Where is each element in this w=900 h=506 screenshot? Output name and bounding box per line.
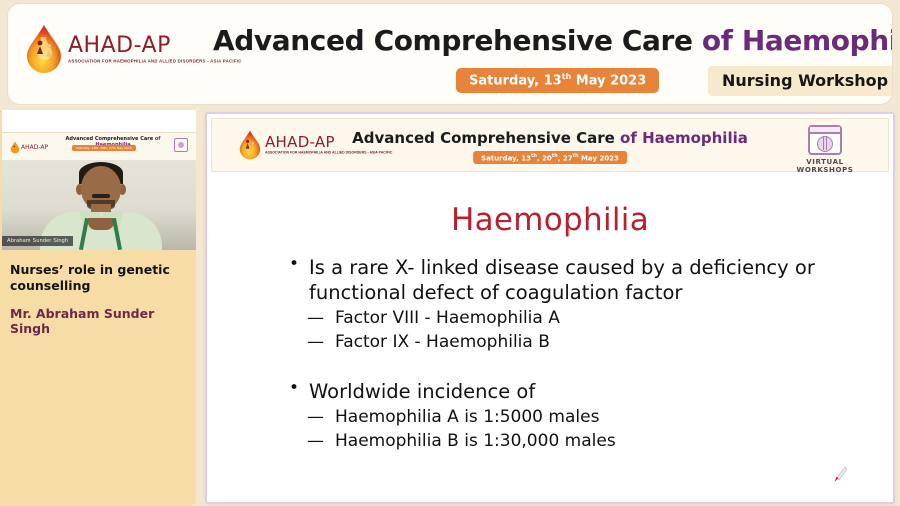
slide-header-title-accent: of Haemophilia xyxy=(620,129,748,147)
workshop-type-badge: Nursing Workshop xyxy=(708,66,892,96)
flame-droplet-logo-icon xyxy=(24,23,64,75)
logo-subtitle: ASSOCIATION FOR HAEMOPHILIA AND ALLIED D… xyxy=(68,60,242,64)
presentation-slide[interactable]: AHAD-AP ASSOCIATION FOR HAEMOPHILIA AND … xyxy=(205,112,895,504)
slide-logo-wordmark: AHAD-AP xyxy=(265,135,359,150)
sub-bullet: Haemophilia B is 1:30,000 males xyxy=(285,429,869,453)
speaker-sidebar: AHAD-AP Advanced Comprehensive Care of H… xyxy=(0,110,196,506)
virtual-workshops-label: VIRTUAL WORKSHOPS xyxy=(792,158,858,174)
virtual-workshops-mark: VIRTUAL WORKSHOPS xyxy=(792,125,858,174)
video-name-overlay: Abraham Sunder Singh xyxy=(2,236,73,246)
session-title: Nurses’ role in genetic counselling xyxy=(10,262,186,293)
slide-header-center: Advanced Comprehensive Care of Haemophil… xyxy=(352,129,748,165)
slide-header-title: Advanced Comprehensive Care of Haemophil… xyxy=(352,129,748,147)
bullet-point: Worldwide incidence of xyxy=(285,380,869,405)
event-date-rest: May 2023 xyxy=(571,73,646,88)
video-backdrop-header: AHAD-AP Advanced Comprehensive Care of H… xyxy=(2,132,196,162)
event-title: Advanced Comprehensive Care of Haemophil… xyxy=(213,24,892,57)
event-title-main: Advanced Comprehensive Care xyxy=(213,24,702,57)
ahad-ap-logo: AHAD-AP ASSOCIATION FOR HAEMOPHILIA AND … xyxy=(24,18,174,80)
date-mid-2: , 27 xyxy=(558,154,573,162)
flame-droplet-logo-icon xyxy=(10,141,20,154)
slide-main-title: Haemophilia xyxy=(207,202,893,238)
browser-globe-icon xyxy=(808,125,842,155)
event-banner: AHAD-AP ASSOCIATION FOR HAEMOPHILIA AND … xyxy=(8,4,892,104)
video-backdrop-wordmark: AHAD-AP xyxy=(21,144,48,151)
slide-header-title-main: Advanced Comprehensive Care xyxy=(352,129,620,147)
flame-droplet-logo-icon xyxy=(238,129,262,161)
laser-pointer-cursor xyxy=(834,466,848,486)
sub-bullet: Factor IX - Haemophilia B xyxy=(285,330,869,354)
date-suffix: May 2023 xyxy=(579,154,619,162)
video-backdrop-date: Saturday, 13th, 20th, 27th May 2023 xyxy=(72,145,136,151)
slide-header-date-badge: Saturday, 13th, 20th, 27th May 2023 xyxy=(473,151,627,163)
event-date-ordinal: th xyxy=(562,72,572,81)
bullet-point: Is a rare X- linked disease caused by a … xyxy=(285,256,839,306)
speaker-video-thumbnail[interactable]: AHAD-AP Advanced Comprehensive Care of H… xyxy=(2,110,196,250)
video-backdrop-logo: AHAD-AP xyxy=(10,141,48,154)
slide-header: AHAD-AP ASSOCIATION FOR HAEMOPHILIA AND … xyxy=(211,118,889,172)
event-title-accent: of Haemophilia xyxy=(702,24,892,57)
video-backdrop-virtual-icon xyxy=(174,138,188,152)
logo-wordmark: AHAD-AP xyxy=(68,35,197,57)
webinar-viewer-stage: AHAD-AP ASSOCIATION FOR HAEMOPHILIA AND … xyxy=(0,0,900,506)
date-mid-1: , 20 xyxy=(537,154,552,162)
event-date-text: Saturday, 13 xyxy=(469,73,562,88)
slide-body: Is a rare X- linked disease caused by a … xyxy=(285,256,869,453)
sub-bullet: Haemophilia A is 1:5000 males xyxy=(285,405,869,429)
event-date-badge: Saturday, 13th May 2023 xyxy=(456,68,659,93)
speaker-name: Mr. Abraham Sunder Singh xyxy=(10,306,190,336)
slide-logo: AHAD-AP ASSOCIATION FOR HAEMOPHILIA AND … xyxy=(238,129,359,161)
sub-bullet: Factor VIII - Haemophilia A xyxy=(285,306,869,330)
date-prefix: Saturday, 13 xyxy=(481,154,531,162)
